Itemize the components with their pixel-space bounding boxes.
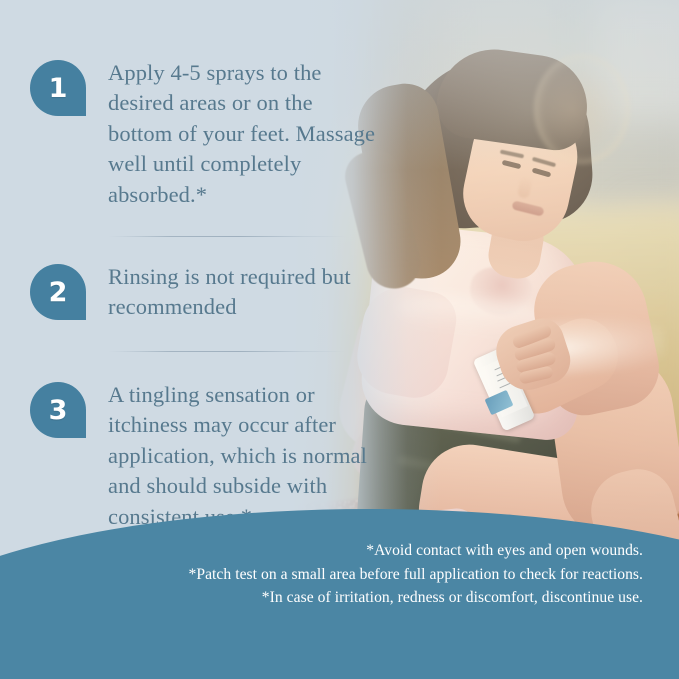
step-divider-1	[108, 236, 346, 237]
instruction-poster: 1 Apply 4-5 sprays to the desired areas …	[0, 0, 679, 679]
photo-hair-flyaways	[534, 54, 630, 164]
step-number-badge-3: 3	[30, 382, 86, 438]
step-number-badge-2: 2	[30, 264, 86, 320]
disclaimer-footer-inner: *Avoid contact with eyes and open wounds…	[0, 509, 679, 679]
disclaimer-footer: *Avoid contact with eyes and open wounds…	[0, 509, 679, 679]
step-text-1: Apply 4-5 sprays to the desired areas or…	[108, 58, 378, 210]
step-divider-2	[108, 351, 346, 352]
disclaimer-line-2: *Patch test on a small area before full …	[43, 563, 643, 587]
step-item-2: 2 Rinsing is not required but recommende…	[30, 262, 378, 323]
step-item-1: 1 Apply 4-5 sprays to the desired areas …	[30, 60, 378, 210]
step-text-2: Rinsing is not required but recommended	[108, 262, 378, 323]
disclaimer-line-1: *Avoid contact with eyes and open wounds…	[43, 539, 643, 563]
disclaimer-text: *Avoid contact with eyes and open wounds…	[43, 539, 643, 610]
step-number-badge-1: 1	[30, 60, 86, 116]
disclaimer-line-3: *In case of irritation, redness or disco…	[43, 586, 643, 610]
